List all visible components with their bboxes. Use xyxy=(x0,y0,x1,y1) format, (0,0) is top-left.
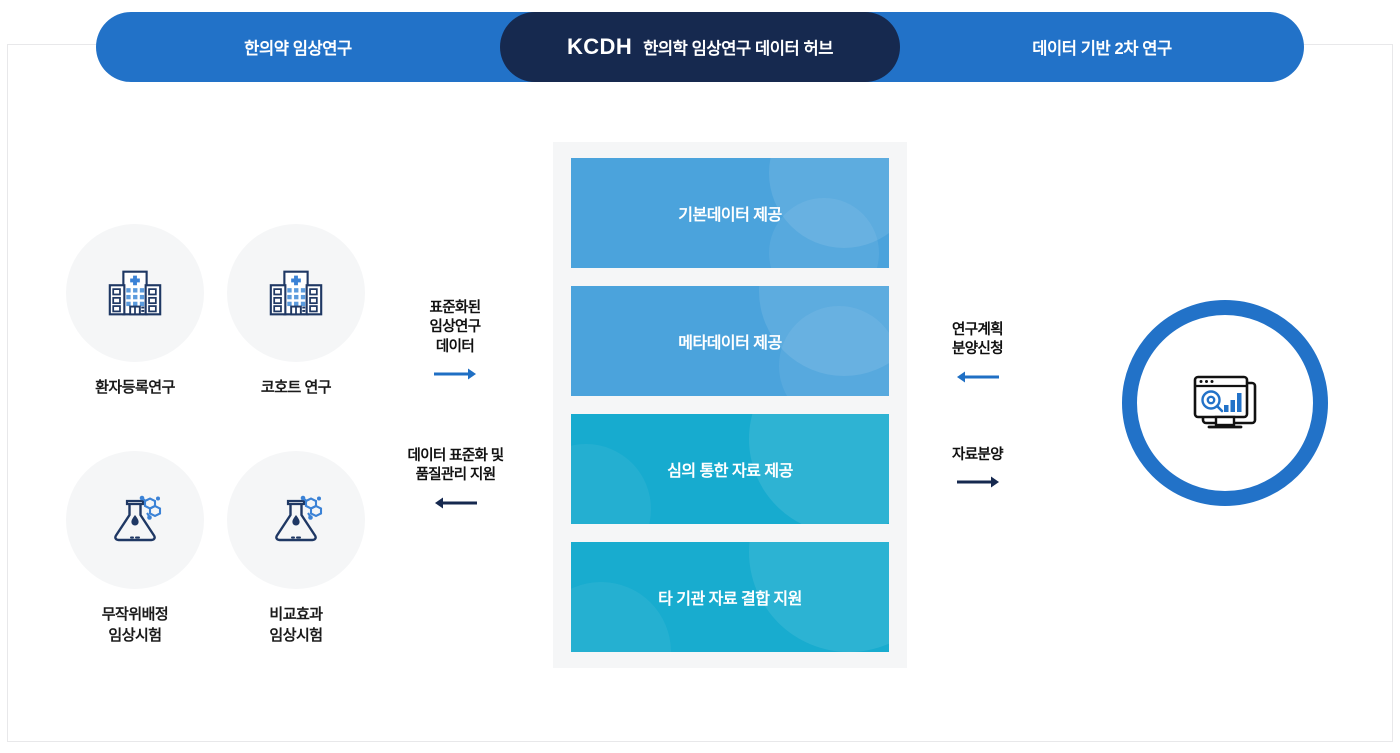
flow-label-line1: 표준화된 xyxy=(430,300,481,316)
dashboard-analytics-icon xyxy=(1183,361,1267,445)
flow-label-line1: 데이터 표준화 및 xyxy=(407,448,503,464)
source-node-disc xyxy=(66,451,204,589)
kcdh-hub-label: 한의학 임상연구 데이터 허브 xyxy=(643,35,833,59)
hub-card-basic-data[interactable]: 기본데이터 제공 xyxy=(571,158,889,268)
source-node-cohort-study[interactable]: 코호트 연구 xyxy=(221,224,371,399)
hub-service-panel: 기본데이터 제공 메타데이터 제공 심의 통한 자료 제공 타 기관 자료 결합… xyxy=(553,142,907,668)
hospital-icon xyxy=(104,262,166,324)
stage-clinical-research[interactable]: 한의약 임상연구 xyxy=(96,12,500,82)
hub-card-linkage-support[interactable]: 타 기관 자료 결합 지원 xyxy=(571,542,889,652)
flow-arrow-left xyxy=(383,495,528,511)
hub-card-label: 기본데이터 제공 xyxy=(678,201,782,225)
hub-card-reviewed-data[interactable]: 심의 통한 자료 제공 xyxy=(571,414,889,524)
flow-arrow-right xyxy=(915,474,1040,490)
flow-label-line2: 분양신청 xyxy=(952,341,1003,357)
flow-arrow-left xyxy=(915,369,1040,385)
source-node-disc xyxy=(227,451,365,589)
arrow-left-icon xyxy=(433,495,479,511)
outcome-node-secondary-research[interactable] xyxy=(1122,300,1328,506)
source-node-disc xyxy=(66,224,204,362)
source-node-disc xyxy=(227,224,365,362)
stage-kcdh-hub[interactable]: KCDH 한의학 임상연구 데이터 허브 xyxy=(500,12,900,82)
hospital-icon xyxy=(265,262,327,324)
flow-data-distribution-label: 자료분양 xyxy=(915,446,1040,465)
flow-label-line1: 연구계획 xyxy=(952,322,1003,338)
source-node-label-line1: 비교효과 xyxy=(269,606,322,623)
flow-label-line2: 품질관리 지원 xyxy=(416,467,496,483)
flow-research-plan-label: 연구계획 분양신청 xyxy=(915,321,1040,360)
flow-label-line1: 자료분양 xyxy=(952,447,1003,463)
stage-secondary-research-label: 데이터 기반 2차 연구 xyxy=(1032,35,1172,59)
flow-label-line2: 임상연구 xyxy=(430,319,481,335)
source-node-patient-registry[interactable]: 환자등록연구 xyxy=(60,224,210,399)
flow-standardized-data: 표준화된 임상연구 데이터 xyxy=(390,299,520,382)
flow-quality-support-label: 데이터 표준화 및 품질관리 지원 xyxy=(383,447,528,486)
kcdh-wordmark: KCDH xyxy=(567,34,632,60)
source-node-label: 코호트 연구 xyxy=(221,378,371,399)
flow-research-plan: 연구계획 분양신청 xyxy=(915,321,1040,385)
flask-molecule-icon xyxy=(264,488,328,552)
stage-clinical-research-label: 한의약 임상연구 xyxy=(244,35,352,59)
arrow-left-icon xyxy=(955,369,1001,385)
flow-quality-support: 데이터 표준화 및 품질관리 지원 xyxy=(383,447,528,511)
source-node-label: 무작위배정 임상시험 xyxy=(60,605,210,646)
source-node-comparative-trial[interactable]: 비교효과 임상시험 xyxy=(221,451,371,646)
hub-card-metadata[interactable]: 메타데이터 제공 xyxy=(571,286,889,396)
source-node-label-line1: 무작위배정 xyxy=(102,606,169,623)
source-node-label-line2: 임상시험 xyxy=(269,627,322,644)
source-node-label: 비교효과 임상시험 xyxy=(221,605,371,646)
flow-data-distribution: 자료분양 xyxy=(915,446,1040,490)
source-node-randomized-trial[interactable]: 무작위배정 임상시험 xyxy=(60,451,210,646)
stage-secondary-research[interactable]: 데이터 기반 2차 연구 xyxy=(900,12,1304,82)
arrow-right-icon xyxy=(432,366,478,382)
arrow-right-icon xyxy=(955,474,1001,490)
process-stage-bar: 한의약 임상연구 데이터 기반 2차 연구 KCDH 한의학 임상연구 데이터 … xyxy=(96,12,1304,82)
flow-standardized-data-label: 표준화된 임상연구 데이터 xyxy=(390,299,520,357)
source-node-label-line2: 임상시험 xyxy=(108,627,161,644)
hub-card-label: 타 기관 자료 결합 지원 xyxy=(658,585,802,609)
hub-card-label: 메타데이터 제공 xyxy=(678,329,782,353)
decorative-blob xyxy=(571,582,671,652)
hub-card-label: 심의 통한 자료 제공 xyxy=(667,457,793,481)
decorative-blob xyxy=(571,444,651,524)
diagram-canvas: 한의약 임상연구 데이터 기반 2차 연구 KCDH 한의학 임상연구 데이터 … xyxy=(0,0,1400,753)
source-node-label: 환자등록연구 xyxy=(60,378,210,399)
flask-molecule-icon xyxy=(103,488,167,552)
flow-arrow-right xyxy=(390,366,520,382)
flow-label-line3: 데이터 xyxy=(436,339,474,355)
